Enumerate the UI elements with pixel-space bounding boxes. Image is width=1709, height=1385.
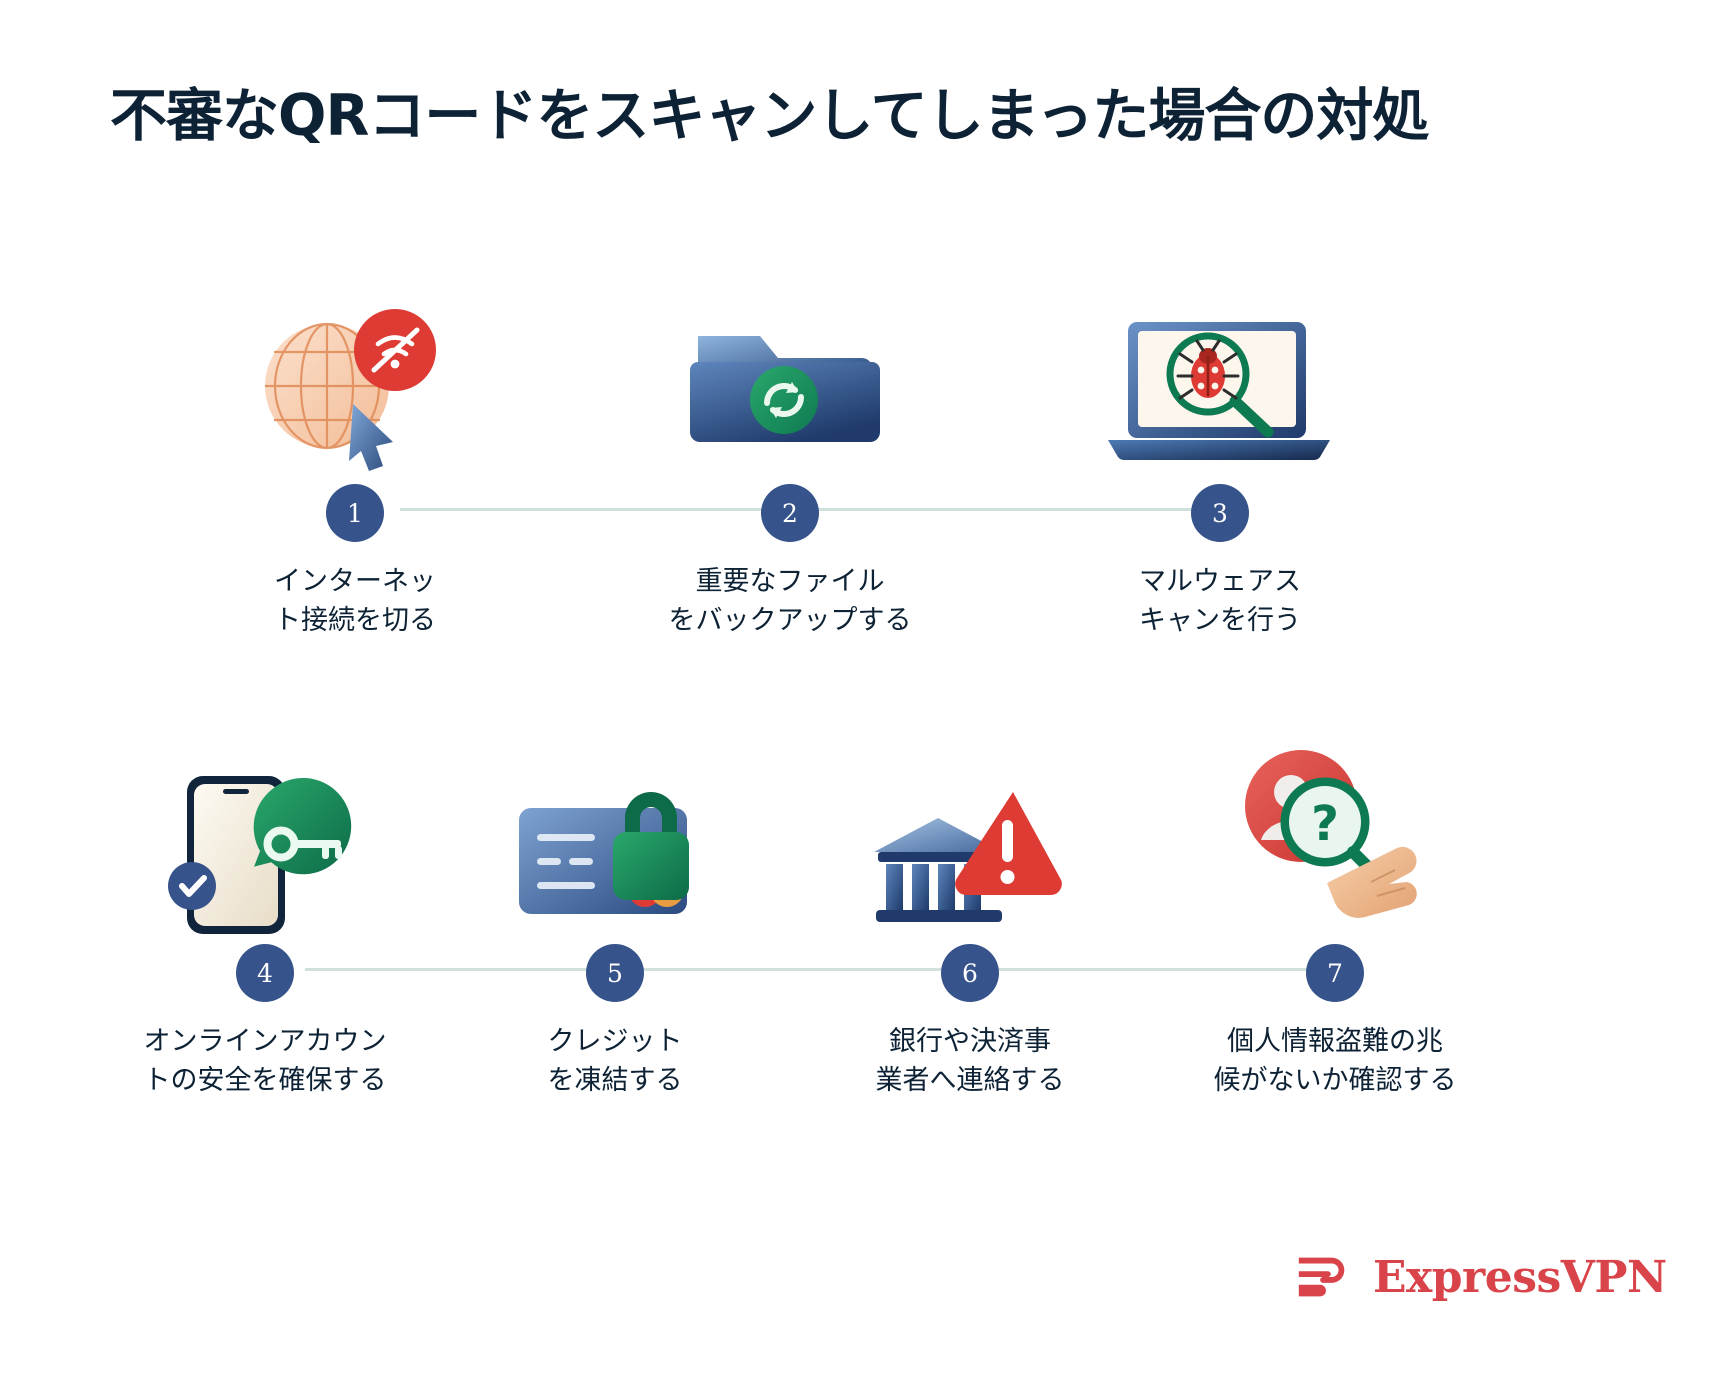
expressvpn-logo[interactable]: ExpressVPN (1293, 1246, 1667, 1308)
connector-line-row-2 (305, 968, 1325, 971)
step-6-label: 銀行や決済事 業者へ連絡する (820, 1022, 1120, 1100)
step-2-label: 重要なファイル をバックアップする (640, 562, 940, 640)
expressvpn-mark-icon (1293, 1246, 1355, 1308)
step-1-badge-wrap: 1 (205, 480, 505, 546)
step-4-badge: 4 (236, 944, 294, 1002)
step-2[interactable]: 2 重要なファイル をバックアップする (640, 300, 940, 640)
step-7-badge: 7 (1306, 944, 1364, 1002)
identity-search-icon: ? (1205, 740, 1465, 940)
expressvpn-wordmark: ExpressVPN (1373, 1252, 1667, 1303)
step-3[interactable]: 3 マルウェアス キャンを行う (1070, 300, 1370, 640)
step-6-art (820, 760, 1120, 940)
step-2-badge: 2 (761, 484, 819, 542)
step-7-badge-wrap: 7 (1185, 940, 1485, 1006)
svg-text:?: ? (1311, 796, 1339, 852)
step-7-label: 個人情報盗難の兆 候がないか確認する (1185, 1022, 1485, 1100)
step-1[interactable]: 1 インターネッ ト接続を切る (205, 300, 505, 640)
step-5-badge-wrap: 5 (465, 940, 765, 1006)
step-5[interactable]: 5 クレジット を凍結する (465, 760, 765, 1100)
step-6[interactable]: 6 銀行や決済事 業者へ連絡する (820, 760, 1120, 1100)
step-1-art (205, 300, 505, 480)
step-2-art (640, 300, 940, 480)
credit-card-lock-icon (505, 760, 725, 940)
phone-key-secure-icon (155, 760, 375, 940)
step-3-badge: 3 (1191, 484, 1249, 542)
step-5-label: クレジット を凍結する (465, 1022, 765, 1100)
step-4-art (115, 760, 415, 940)
step-7-art: ? (1185, 760, 1485, 940)
step-7[interactable]: ? 7 個人情報盗難の兆 候がないか確認する (1185, 760, 1485, 1100)
step-5-badge: 5 (586, 944, 644, 1002)
infographic-page: 不審なQRコードをスキャンしてしまった場合の対処 (0, 0, 1709, 1385)
step-6-badge-wrap: 6 (820, 940, 1120, 1006)
step-1-label: インターネッ ト接続を切る (205, 562, 505, 640)
step-5-art (465, 760, 765, 940)
laptop-malware-scan-icon (1100, 300, 1340, 480)
step-4[interactable]: 4 オンラインアカウン トの安全を確保する (115, 760, 415, 1100)
step-1-badge: 1 (326, 484, 384, 542)
step-6-badge: 6 (941, 944, 999, 1002)
bank-alert-icon (860, 760, 1080, 940)
step-4-label: オンラインアカウン トの安全を確保する (115, 1022, 415, 1100)
page-title: 不審なQRコードをスキャンしてしまった場合の対処 (110, 70, 1428, 152)
step-3-art (1070, 300, 1370, 480)
step-3-label: マルウェアス キャンを行う (1070, 562, 1370, 640)
step-2-badge-wrap: 2 (640, 480, 940, 546)
folder-backup-sync-icon (680, 300, 900, 480)
step-3-badge-wrap: 3 (1070, 480, 1370, 546)
globe-no-connection-icon (245, 300, 465, 480)
step-4-badge-wrap: 4 (115, 940, 415, 1006)
